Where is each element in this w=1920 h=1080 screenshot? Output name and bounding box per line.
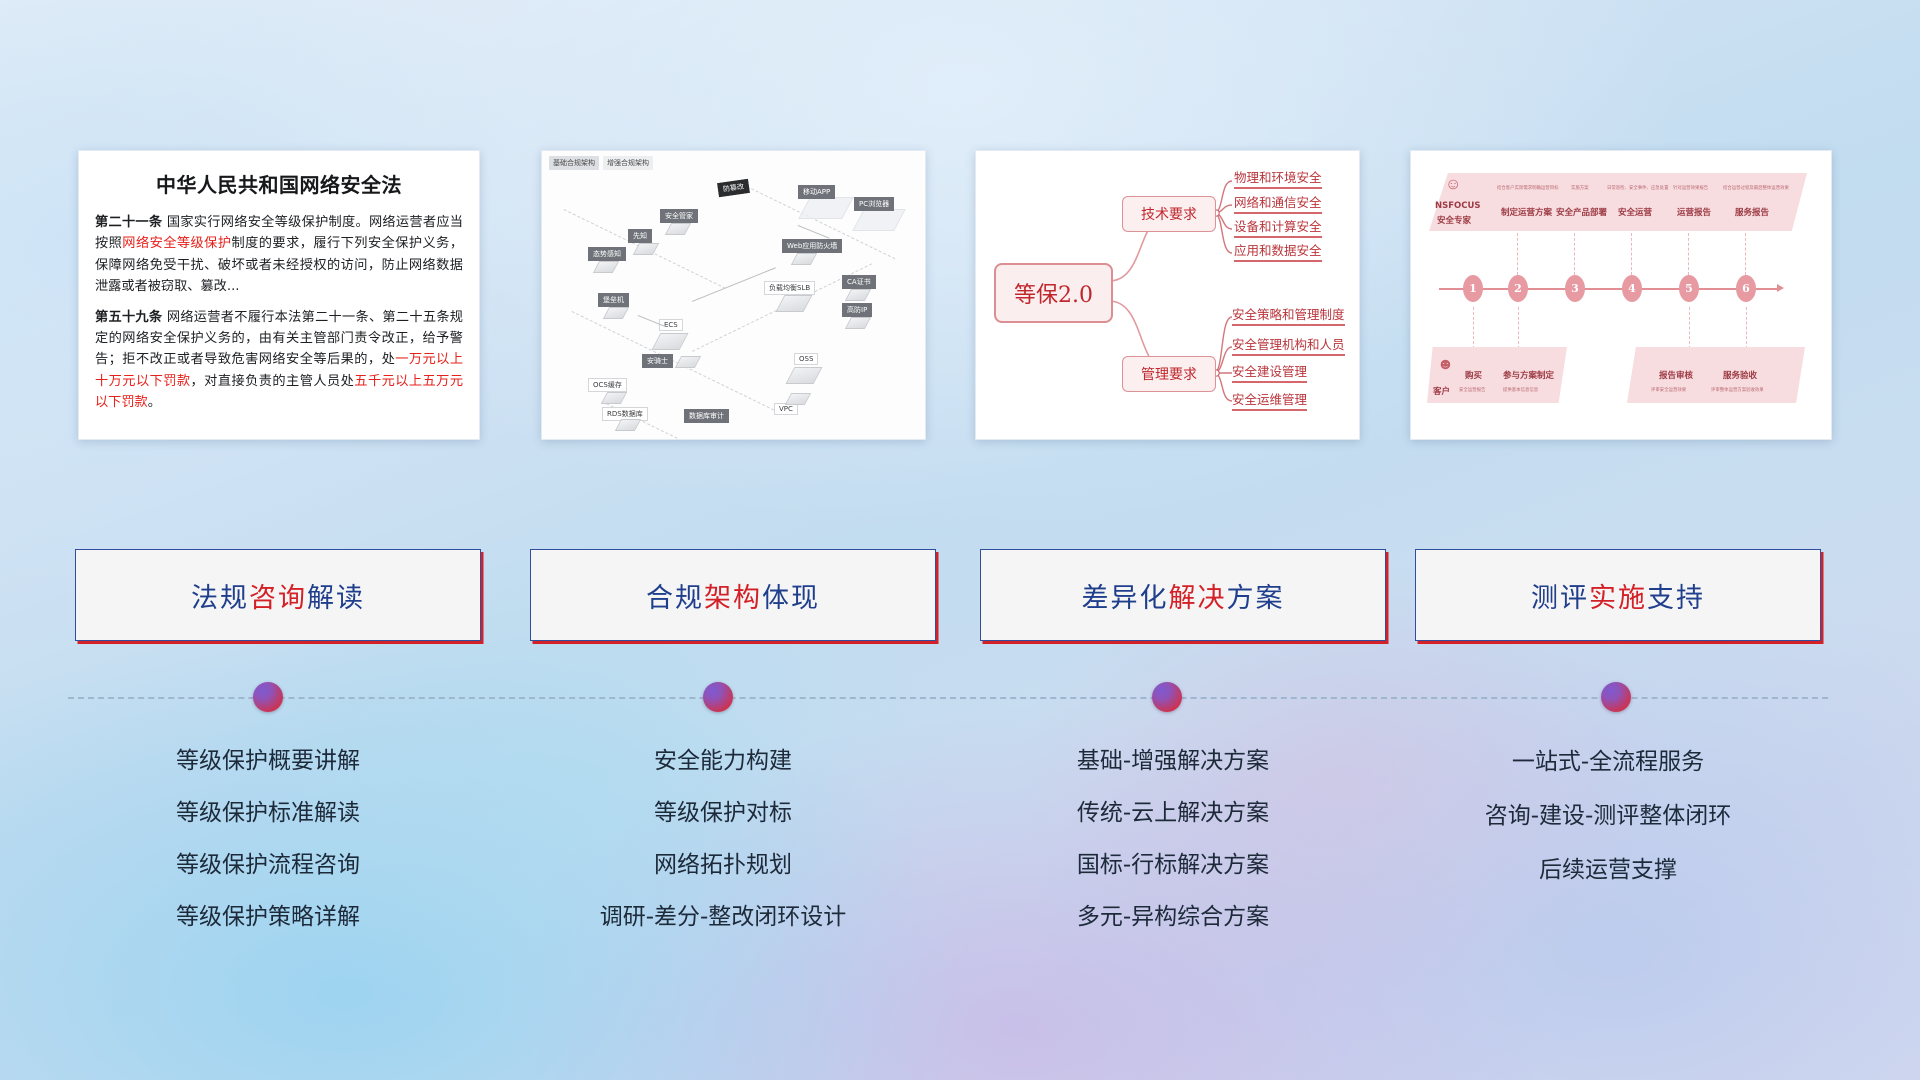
detail-columns: 等级保护概要讲解 等级保护标准解读 等级保护流程咨询 等级保护策略详解 安全能力… (0, 735, 1920, 985)
list-item: 等级保护概要讲解 (66, 735, 470, 787)
cube-rds (615, 419, 641, 431)
list-item: 等级保护标准解读 (66, 787, 470, 839)
cube-ca (845, 289, 871, 301)
timeline-top-band (1429, 173, 1807, 231)
section-title-box-3[interactable]: 差异化解决方案 (980, 549, 1386, 641)
tick-8 (1689, 307, 1690, 349)
tick-5 (1745, 233, 1746, 275)
cube-ocs-cache (601, 392, 627, 404)
step-1-sub: 结合客户实际需求明确运营目标 (1497, 185, 1558, 191)
service-acceptance-label: 服务验收 (1723, 369, 1757, 381)
section-title-1-part-b: 咨询 (249, 583, 307, 614)
expert-person-icon: ☺ (1445, 177, 1461, 193)
section-title-2-part-c: 体现 (762, 583, 820, 614)
mindmap-leaf-device-compute: 设备和计算安全 (1234, 216, 1322, 240)
section-title-3-part-a: 差异化 (1082, 583, 1169, 614)
section-title-row: 法规咨询解读 合规架构体现 差异化解决方案 测评实施支持 (0, 549, 1920, 639)
plan-participation-label: 参与方案制定 (1503, 369, 1554, 381)
step-number-3: 3 (1565, 275, 1585, 302)
node-oss: OSS (794, 353, 818, 365)
cube-anti-ddos (845, 317, 871, 329)
section-title-3-part-b: 解决 (1169, 583, 1227, 614)
section-title-2-part-a: 合规 (646, 583, 704, 614)
article-21-label: 第二十一条 (95, 215, 162, 230)
detail-column-4: 一站式-全流程服务 咨询-建设-测评整体闭环 后续运营支撑 (1406, 735, 1810, 897)
node-ocs-cache: OCS缓存 (588, 378, 627, 392)
list-item: 后续运营支撑 (1406, 843, 1810, 897)
card-compliance-architecture: 基础合规架构 增强合规架构 防篡改 安全管家 先知 态势感知 堡垒机 (541, 150, 926, 440)
timeline-axis (1439, 288, 1779, 290)
step-4-label: 运营报告 (1677, 206, 1711, 218)
mindmap-leaf-physical-env: 物理和环境安全 (1234, 167, 1322, 191)
tick-4 (1688, 233, 1689, 275)
node-bastion-host: 堡垒机 (598, 293, 629, 307)
cube-ecs (651, 333, 688, 350)
timeline-arrow-icon (1777, 284, 1784, 292)
list-item: 传统-云上解决方案 (971, 787, 1375, 839)
link-line-3 (798, 225, 830, 239)
nsfocus-timeline: ☺ NSFOCUS 安全专家 结合客户实际需求明确运营目标 制定运营方案 实施方… (1411, 151, 1831, 439)
cube-slb (775, 295, 812, 312)
plan-participation-sub: 提供基本信息信息 (1503, 387, 1538, 393)
mindmap-root: 等保2.0 (994, 263, 1113, 323)
section-title-box-2[interactable]: 合规架构体现 (530, 549, 936, 641)
cube-anqishi (675, 356, 701, 368)
card-nsfocus-timeline: ☺ NSFOCUS 安全专家 结合客户实际需求明确运营目标 制定运营方案 实施方… (1410, 150, 1832, 440)
cube-bastion-host (603, 307, 629, 319)
mindmap-branch-management: 管理要求 (1122, 356, 1216, 392)
detail-column-2: 安全能力构建 等级保护对标 网络拓扑规划 调研-差分-整改闭环设计 (521, 735, 925, 943)
section-title-3-part-c: 方案 (1227, 583, 1285, 614)
step-number-1: 1 (1463, 275, 1483, 302)
step-3-sub: 日常巡检、安全事件、应急处置 (1607, 185, 1668, 191)
node-anti-tamper: 防篡改 (717, 179, 750, 197)
timeline-dot-3[interactable] (1152, 682, 1182, 712)
mindmap-leaf-app-data: 应用和数据安全 (1234, 240, 1322, 264)
cube-oss (785, 367, 822, 384)
preview-card-row: 中华人民共和国网络安全法 第二十一条 国家实行网络安全等级保护制度。网络运营者应… (0, 150, 1920, 440)
list-item: 网络拓扑规划 (521, 839, 925, 891)
section-title-4-part-a: 测评 (1531, 583, 1589, 614)
section-title-box-1[interactable]: 法规咨询解读 (75, 549, 481, 641)
tick-2 (1574, 233, 1575, 275)
customer-person-icon: ☻ (1437, 357, 1454, 373)
list-item: 基础-增强解决方案 (971, 735, 1375, 787)
step-5-label: 服务报告 (1735, 206, 1769, 218)
architecture-tabs: 基础合规架构 增强合规架构 (549, 156, 653, 170)
tick-6 (1473, 307, 1474, 349)
card-mlps-mindmap: 等保2.0 技术要求 管理要求 物理和环境安全 网络和通信安全 设备和计算安全 … (975, 150, 1360, 440)
law-title: 中华人民共和国网络安全法 (95, 169, 463, 198)
list-item: 国标-行标解决方案 (971, 839, 1375, 891)
tick-9 (1746, 307, 1747, 349)
step-number-2: 2 (1508, 275, 1528, 302)
customer-label: 客户 (1433, 385, 1450, 397)
article-59-label: 第五十九条 (95, 310, 162, 325)
service-acceptance-sub: 评审整体运营方案验收效果 (1711, 387, 1764, 393)
node-situation-awareness: 态势感知 (588, 247, 626, 261)
node-db-audit: 数据库审计 (684, 409, 729, 423)
mindmap-leaf-ops-mgmt: 安全运维管理 (1232, 389, 1307, 413)
law-article-21: 第二十一条 国家实行网络安全等级保护制度。网络运营者应当按照网络安全等级保护制度… (95, 212, 463, 298)
step-2-sub: 实施方案 (1571, 185, 1589, 191)
cube-situation-awareness (593, 261, 619, 273)
list-item: 一站式-全流程服务 (1406, 735, 1810, 789)
section-title-3: 差异化解决方案 (1082, 576, 1285, 615)
card-cybersecurity-law: 中华人民共和国网络安全法 第二十一条 国家实行网络安全等级保护制度。网络运营者应… (78, 150, 480, 440)
nsfocus-brand-line2: 安全专家 (1437, 214, 1471, 226)
node-waf: Web应用防火墙 (782, 239, 842, 253)
detail-column-1: 等级保护概要讲解 等级保护标准解读 等级保护流程咨询 等级保护策略详解 (66, 735, 470, 943)
step-2-label: 安全产品部署 (1556, 206, 1607, 218)
node-mobile-app: 移动APP (798, 185, 835, 199)
platform-mobile (798, 197, 854, 219)
architecture-diagram: 基础合规架构 增强合规架构 防篡改 安全管家 先知 态势感知 堡垒机 (542, 151, 925, 439)
section-title-1: 法规咨询解读 (191, 576, 365, 615)
tick-1 (1517, 233, 1518, 275)
detail-column-3: 基础-增强解决方案 传统-云上解决方案 国标-行标解决方案 多元-异构综合方案 (971, 735, 1375, 943)
timeline-dot-1[interactable] (253, 682, 283, 712)
report-review-sub: 评审安全运营效果 (1651, 387, 1686, 393)
section-title-4: 测评实施支持 (1531, 576, 1705, 615)
step-4-sub: 针对运营效果报告 (1673, 185, 1708, 191)
mindmap-leaf-construction-mgmt: 安全建设管理 (1232, 361, 1307, 385)
list-item: 多元-异构综合方案 (971, 891, 1375, 943)
step-5-sub: 结合运营过程及最后整体运营效果 (1723, 185, 1789, 191)
section-title-4-part-b: 实施 (1589, 583, 1647, 614)
cube-waf (791, 253, 817, 265)
node-ca-certificate: CA证书 (842, 275, 876, 289)
mindmap-leaf-org-personnel: 安全管理机构和人员 (1232, 334, 1345, 358)
list-item: 调研-差分-整改闭环设计 (521, 891, 925, 943)
cube-security-butler (665, 223, 691, 235)
article-59-body-c: 。 (148, 395, 161, 410)
timeline-dot-2[interactable] (703, 682, 733, 712)
purchase-sub: 安全运营报告 (1459, 387, 1485, 393)
slide-canvas: 中华人民共和国网络安全法 第二十一条 国家实行网络安全等级保护制度。网络运营者应… (0, 0, 1920, 1080)
law-article-59: 第五十九条 网络运营者不履行本法第二十一条、第二十五条规定的网络安全保护义务的，… (95, 307, 463, 414)
report-review-label: 报告审核 (1659, 369, 1693, 381)
mindmap-leaf-policy-system: 安全策略和管理制度 (1232, 304, 1345, 328)
timeline-dashed-line (68, 697, 1828, 701)
section-title-2-part-b: 架构 (704, 583, 762, 614)
platform-pc (852, 209, 906, 231)
mindmap-leaf-network-comm: 网络和通信安全 (1234, 192, 1322, 216)
list-item: 咨询-建设-测评整体闭环 (1406, 789, 1810, 843)
list-item: 等级保护流程咨询 (66, 839, 470, 891)
article-21-highlight: 网络安全等级保护 (122, 236, 231, 251)
list-item: 等级保护策略详解 (66, 891, 470, 943)
nsfocus-brand-line1: NSFOCUS (1435, 201, 1481, 211)
tab-basic-architecture[interactable]: 基础合规架构 (549, 156, 599, 170)
node-xianzhi: 先知 (628, 229, 652, 243)
step-number-5: 5 (1679, 275, 1699, 302)
mindmap: 等保2.0 技术要求 管理要求 物理和环境安全 网络和通信安全 设备和计算安全 … (976, 151, 1359, 439)
step-number-4: 4 (1622, 275, 1642, 302)
list-item: 等级保护对标 (521, 787, 925, 839)
step-number-6: 6 (1736, 275, 1756, 302)
section-title-1-part-c: 解读 (307, 583, 365, 614)
timeline-bottom-right-band (1627, 347, 1805, 403)
article-59-body-b: ，对直接负责的主管人员处 (191, 374, 355, 389)
tick-3 (1631, 233, 1632, 275)
section-title-1-part-a: 法规 (191, 583, 249, 614)
node-slb: 负载均衡SLB (764, 281, 815, 295)
cube-vpc (785, 393, 811, 405)
node-anqishi: 安骑士 (642, 354, 673, 368)
step-1-label: 制定运营方案 (1501, 206, 1552, 218)
timeline-dot-4[interactable] (1601, 682, 1631, 712)
mindmap-branch-technical: 技术要求 (1122, 196, 1216, 232)
step-3-label: 安全运营 (1618, 206, 1652, 218)
tick-7 (1518, 307, 1519, 349)
node-pc-browser: PC浏览器 (854, 197, 894, 211)
purchase-label: 购买 (1465, 369, 1482, 381)
node-anti-ddos: 高防IP (842, 303, 872, 317)
section-title-4-part-c: 支持 (1647, 583, 1705, 614)
list-item: 安全能力构建 (521, 735, 925, 787)
section-title-box-4[interactable]: 测评实施支持 (1415, 549, 1821, 641)
node-security-butler: 安全管家 (660, 209, 698, 223)
law-document: 中华人民共和国网络安全法 第二十一条 国家实行网络安全等级保护制度。网络运营者应… (79, 151, 479, 439)
section-title-2: 合规架构体现 (646, 576, 820, 615)
